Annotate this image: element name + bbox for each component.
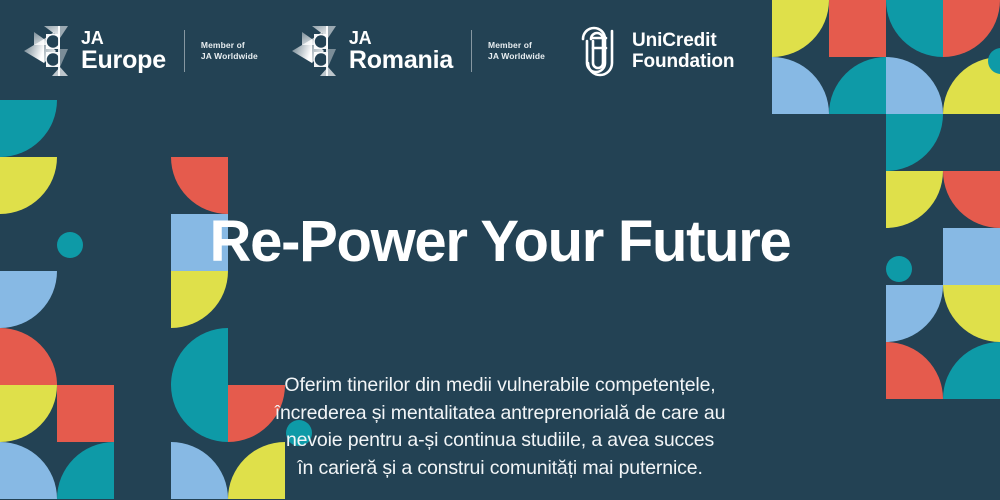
unicredit-clip-mark-icon: [579, 25, 621, 77]
pattern-tile-quarter: [772, 0, 829, 57]
logo-divider: [471, 30, 472, 72]
partner-logo-bar: JA Europe Member of JA Worldwide: [24, 18, 734, 84]
page-title: Re-Power Your Future: [0, 208, 1000, 275]
body-copy: Oferim tinerilor din medii vulnerabile c…: [200, 372, 800, 483]
pattern-tile-quarter: [0, 271, 57, 328]
ja-romania-wordmark: JA Romania: [349, 29, 453, 74]
pattern-tile-quarter: [943, 342, 1000, 399]
campaign-banner: JA Europe Member of JA Worldwide: [0, 0, 1000, 500]
pattern-tile-quarter: [943, 285, 1000, 342]
ja-europe-member-note: Member of JA Worldwide: [201, 40, 258, 63]
ja-triangle-mark-icon: [24, 26, 72, 76]
body-line-4: în carieră și a construi comunități mai …: [200, 455, 800, 483]
logo-unicredit-foundation[interactable]: UniCredit Foundation: [579, 25, 734, 77]
pattern-tile-dot: [988, 48, 1000, 74]
body-line-1: Oferim tinerilor din medii vulnerabile c…: [200, 372, 800, 400]
pattern-tile-quarter: [0, 100, 57, 157]
ja-romania-member-note: Member of JA Worldwide: [488, 40, 545, 63]
body-line-2: încrederea și mentalitatea antreprenoria…: [200, 400, 800, 428]
pattern-tile-quarter: [829, 57, 886, 114]
member-line2: JA Worldwide: [201, 51, 258, 61]
member-line1: Member of: [488, 40, 532, 50]
pattern-tile-quarter: [772, 57, 829, 114]
unicredit-line1: UniCredit: [632, 30, 734, 51]
member-line1: Member of: [201, 40, 245, 50]
unicredit-wordmark: UniCredit Foundation: [632, 30, 734, 73]
logo-divider: [184, 30, 185, 72]
ja-europe-line1: JA: [81, 29, 166, 47]
pattern-tile-square: [57, 385, 114, 442]
pattern-tile-square: [829, 0, 886, 57]
logo-ja-europe[interactable]: JA Europe Member of JA Worldwide: [24, 26, 258, 76]
ja-europe-line2: Europe: [81, 48, 166, 74]
pattern-tile-quarter: [943, 57, 1000, 114]
ja-romania-line1: JA: [349, 29, 453, 47]
unicredit-line2: Foundation: [632, 51, 734, 72]
pattern-tile-quarter: [943, 0, 1000, 57]
member-line2: JA Worldwide: [488, 51, 545, 61]
logo-ja-romania[interactable]: JA Romania Member of JA Worldwide: [292, 26, 545, 76]
pattern-tile-quarter: [886, 285, 943, 342]
ja-romania-line2: Romania: [349, 48, 453, 74]
pattern-tile-quarter: [171, 271, 228, 328]
pattern-tile-quarter: [0, 442, 57, 499]
pattern-tile-quarter: [886, 342, 943, 399]
pattern-tile-quarter: [0, 328, 57, 385]
pattern-tile-quarter: [0, 385, 57, 442]
ja-europe-wordmark: JA Europe: [81, 29, 166, 74]
body-line-3: nevoie pentru a-și continua studiile, a …: [200, 427, 800, 455]
pattern-tile-quarter: [0, 157, 57, 214]
ja-triangle-mark-icon: [292, 26, 340, 76]
pattern-tile-quarter: [886, 57, 943, 114]
pattern-tile-quarter: [886, 0, 943, 57]
pattern-tile-quarter: [57, 442, 114, 499]
pattern-tile-quarter: [886, 114, 943, 171]
pattern-tile-quarter: [171, 157, 228, 214]
